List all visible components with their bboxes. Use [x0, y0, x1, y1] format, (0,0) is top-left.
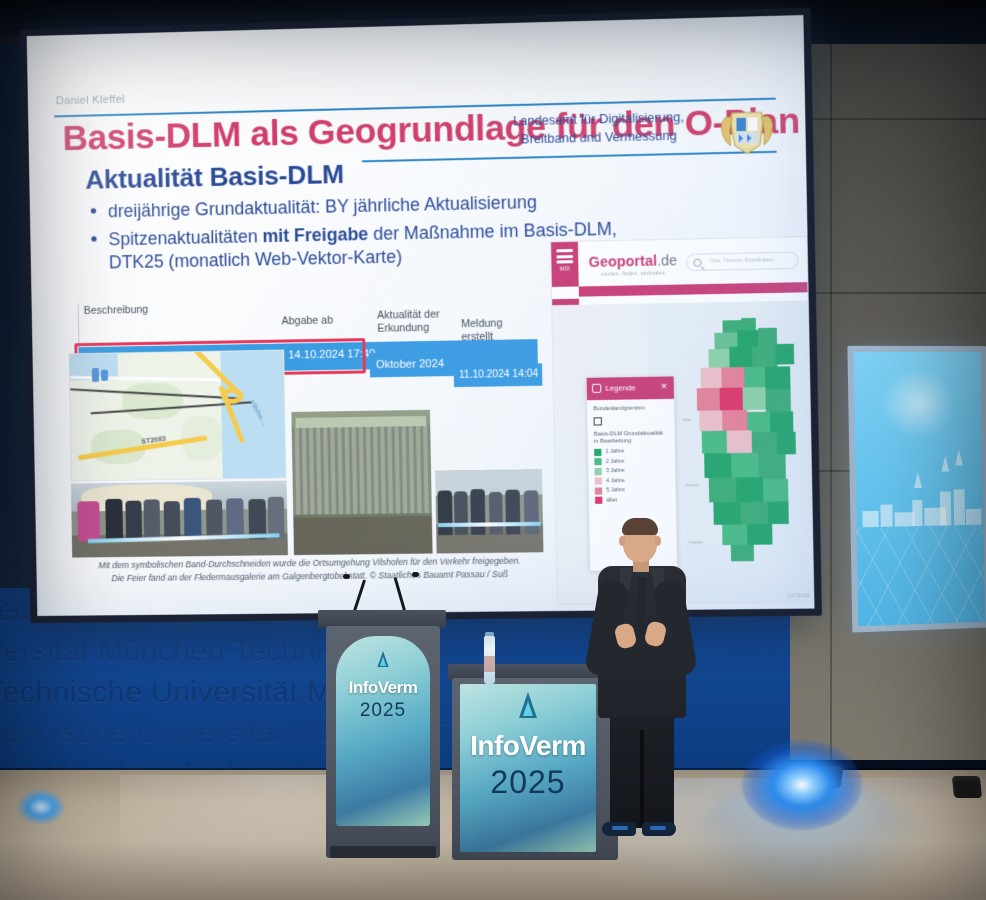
logo-verm: Verm: [519, 730, 586, 761]
legend-item-label: 1 Jahre: [606, 449, 625, 455]
table-header-abgabe-ab: Abgabe ab: [281, 314, 333, 328]
vilshofen-bypass-map: ST2083 Vilsho…: [69, 350, 287, 482]
legend-item[interactable]: 5 Jahre: [595, 486, 676, 494]
infoverm-flame-icon: [519, 692, 537, 718]
menu-label: MDI: [552, 266, 579, 273]
legend-item-label: 4 Jahre: [606, 478, 625, 484]
table-header-aktualitaet: Aktualität der Erkundung: [377, 308, 449, 336]
geoportal-tagline: suchen. finden. verbinden.: [601, 271, 667, 277]
speaker-shoe-left: [602, 822, 636, 836]
slide-subtitle: Aktualität Basis-DLM: [85, 159, 344, 196]
lectern-large-logo: InfoVerm: [460, 730, 596, 762]
legend-icon: [592, 384, 601, 393]
organization-name: Landesamt für Digitalisierung, Breitband…: [490, 107, 708, 149]
speaker-ear-left: [619, 536, 625, 546]
par-can-light-2: [952, 776, 982, 798]
table-header-beschreibung: Beschreibung: [84, 304, 149, 318]
speaker-hair: [622, 518, 658, 535]
cell-aktualitaet-der-erkundung: Oktober 2024: [376, 358, 444, 371]
legend-color-chip: [594, 468, 601, 475]
ribbon-cutting-photo-left: [71, 481, 288, 558]
microphone-head-right: [412, 572, 419, 577]
lectern-small-year: 2025: [336, 700, 430, 722]
presenting-speaker: [580, 520, 700, 850]
geoportal-logo: Geoportal.de: [588, 252, 677, 270]
geoportal-logo-suffix: .de: [657, 252, 678, 269]
legend-color-chip: [595, 477, 602, 484]
bottle-label: [484, 656, 495, 672]
bavaria-coat-of-arms-icon: [713, 104, 781, 159]
bullet-1-text: dreijährige Grundaktualität: BY jährlich…: [108, 192, 537, 222]
legend-item-label: 2 Jahre: [606, 458, 625, 464]
noise-barrier-photo-center: [291, 410, 432, 555]
legend-item[interactable]: älter: [595, 496, 676, 504]
legend-color-chip: [595, 497, 602, 504]
map-city-label: Kassel: [686, 482, 699, 487]
legend-item[interactable]: 1 Jahre: [594, 447, 675, 455]
legend-color-chip: [594, 458, 601, 465]
legend-section-bundeslandgrenzen: Bundeslandgrenzen: [593, 405, 668, 414]
ribbon-cutting-photo-right: [435, 469, 543, 553]
microphone-head-left: [343, 574, 350, 579]
geoportal-logo-text: Geoportal: [588, 252, 657, 270]
speaker-shoe-right: [642, 822, 676, 836]
legend-item[interactable]: 2 Jahre: [594, 457, 675, 465]
legend-title: Legende: [605, 383, 635, 393]
bullet-2-part-1: Spitzenaktualitäten: [108, 226, 262, 249]
legend-item[interactable]: 3 Jahre: [594, 467, 675, 475]
speaker-ear-right: [655, 536, 661, 546]
cell-meldung-erstellt: 11.10.2024 14:04: [459, 369, 538, 381]
speaker-leg-gap: [640, 730, 644, 828]
legend-section-grundaktualitaet: Basis-DLM Grundaktualität in Bearbeitung: [594, 430, 669, 446]
geoportal-search-input[interactable]: Orte, Themen, Koordinaten…: [686, 252, 799, 272]
bullet-2-part-2-bold: mit Freigabe: [262, 224, 368, 246]
legend-header: Legende ✕: [587, 376, 674, 400]
infoverm-flame-icon: [377, 651, 388, 667]
legend-color-chip: [594, 448, 601, 455]
side-projection-screen: [854, 352, 986, 626]
photo-caption: Mit dem symbolischen Band-Durchschneiden…: [96, 555, 523, 585]
logo-info: Info: [470, 730, 519, 761]
legend-item[interactable]: 4 Jahre: [595, 476, 676, 484]
logo-verm: Verm: [378, 678, 418, 697]
lectern-large-branding-panel: InfoVerm 2025: [460, 684, 596, 852]
lectern-small-base: [330, 846, 436, 858]
stage-photo-scene: Technische Universität München Te Univer…: [0, 0, 986, 900]
legend-item-label: 5 Jahre: [606, 487, 625, 493]
hamburger-menu-icon[interactable]: MDI: [551, 242, 579, 287]
par-can-light-1: [815, 766, 843, 788]
legend-color-chip: [595, 487, 602, 494]
legend-item-label: älter: [606, 497, 617, 503]
freigabe-table: Beschreibung Abgabe ab Aktualität der Er…: [78, 294, 538, 347]
map-city-label: Köln: [683, 417, 691, 422]
lectern-small-branding-panel: InfoVerm 2025: [336, 636, 430, 826]
search-icon: [693, 259, 701, 267]
geoportal-topbar: MDI Geoportal.de suchen. finden. verbind…: [551, 237, 807, 287]
slide-author: Daniel Kleffel: [56, 94, 125, 108]
search-placeholder: Orte, Themen, Koordinaten…: [710, 257, 778, 264]
close-icon[interactable]: ✕: [661, 382, 668, 391]
map-attribution: OSTERM: [787, 593, 810, 598]
city-skyline-silhouette: [854, 352, 986, 626]
logo-info: Info: [349, 678, 378, 697]
legend-swatch-border: [594, 417, 602, 425]
lectern-small-logo: InfoVerm: [336, 678, 430, 698]
lectern-large-year: 2025: [460, 764, 596, 801]
legend-item-label: 3 Jahre: [606, 468, 625, 474]
